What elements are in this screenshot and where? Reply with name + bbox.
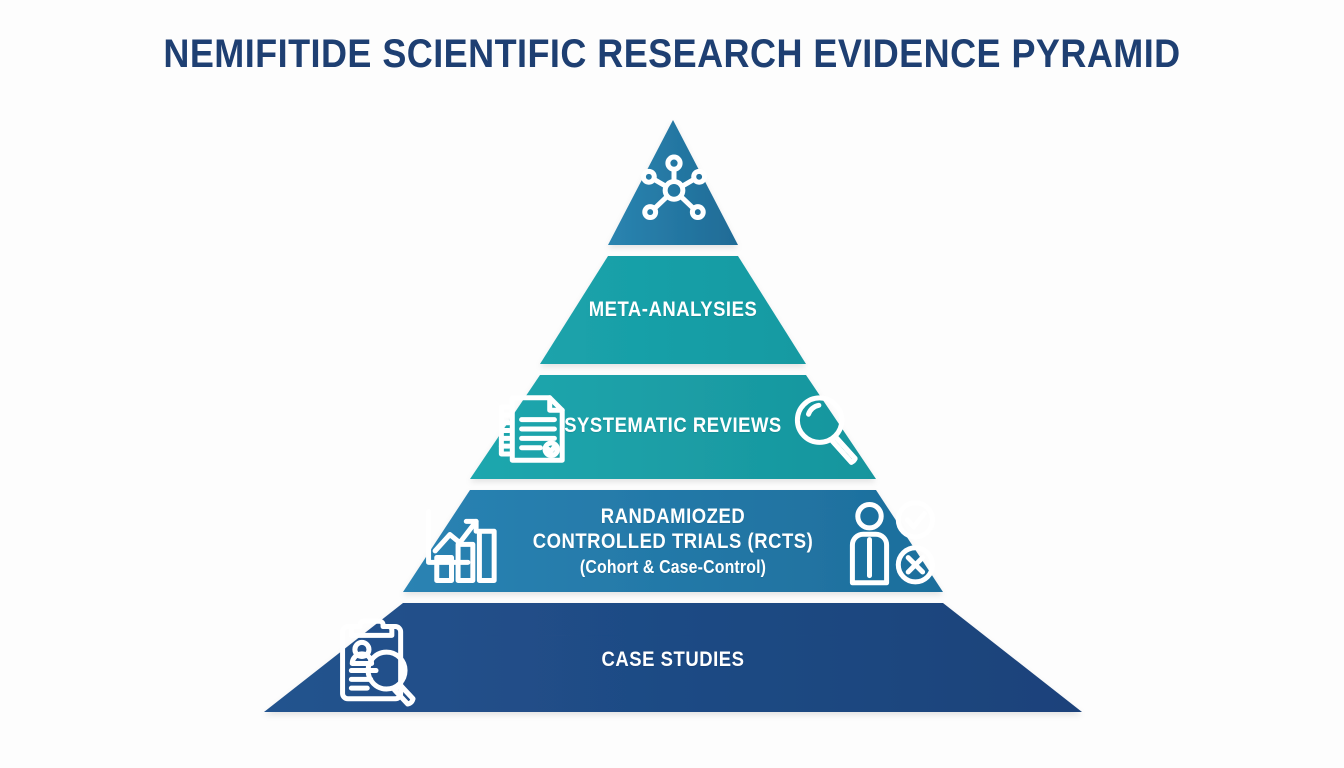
pyramid-tier-case-studies[interactable] [264, 603, 1082, 712]
pyramid-tier-meta-analyses[interactable] [540, 256, 806, 364]
pyramid-tier-systematic-reviews[interactable] [470, 375, 876, 479]
pyramid-tier-apex[interactable] [608, 120, 738, 245]
evidence-pyramid [0, 0, 1344, 768]
pyramid-infographic: NEMIFITIDE SCIENTIFIC RESEARCH EVIDENCE … [0, 0, 1344, 768]
pyramid-tier-rcts[interactable] [403, 490, 943, 592]
